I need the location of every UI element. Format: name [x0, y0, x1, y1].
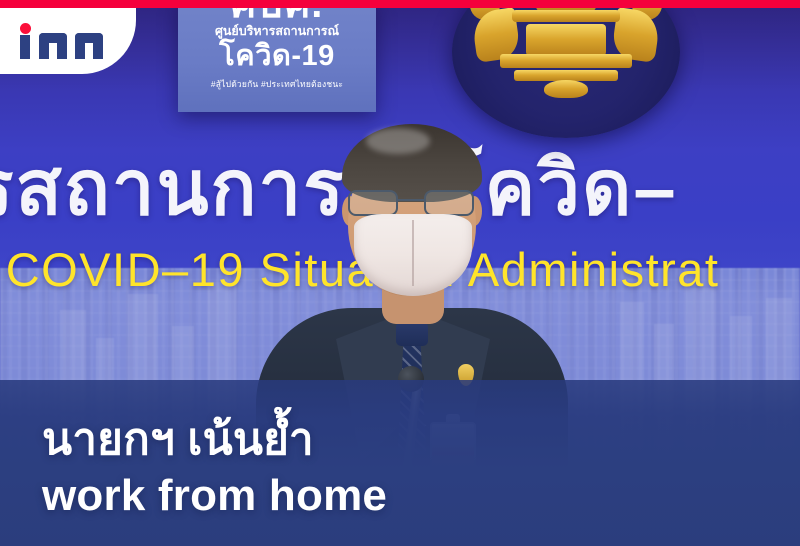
placard-subtitle: ศูนย์บริหารสถานการณ์ [178, 23, 376, 39]
lens-right [424, 190, 474, 216]
logo-letter-n-2 [75, 33, 103, 59]
emblem-body [526, 24, 606, 56]
news-photo-card: ารสถานการณ์ โควิด– r COVID–19 Situation … [0, 0, 800, 546]
headline-line-1: นายกฯ เน้นย้ำ [42, 412, 762, 468]
logo-letter-n-1 [39, 33, 67, 59]
glasses-bridge [398, 199, 424, 201]
placard-hashtags: #สู้ไปด้วยกัน #ประเทศไทยต้องชนะ [178, 77, 376, 91]
royal-emblem [452, 0, 680, 138]
eyeglasses-icon [346, 190, 478, 216]
lens-left [348, 190, 398, 216]
accent-bar [0, 0, 800, 8]
cdd-placard: ศบค. ศูนย์บริหารสถานการณ์ โควิด-19 #สู้ไ… [178, 0, 376, 112]
inn-logo-icon [20, 25, 108, 59]
logo-dot [20, 23, 31, 34]
hair-highlight [366, 128, 430, 154]
face-mask [354, 214, 472, 296]
logo-letter-i [20, 35, 30, 59]
headline: นายกฯ เน้นย้ำ work from home [42, 412, 762, 524]
necktie-knot [396, 322, 428, 346]
emblem-disc [452, 0, 680, 138]
emblem-ribbon [544, 80, 588, 98]
headline-line-2: work from home [42, 468, 762, 524]
emblem-plinth [500, 54, 632, 68]
placard-covid-line: โควิด-19 [178, 40, 376, 72]
mask-seam [412, 220, 414, 286]
emblem-cornice [512, 10, 620, 22]
